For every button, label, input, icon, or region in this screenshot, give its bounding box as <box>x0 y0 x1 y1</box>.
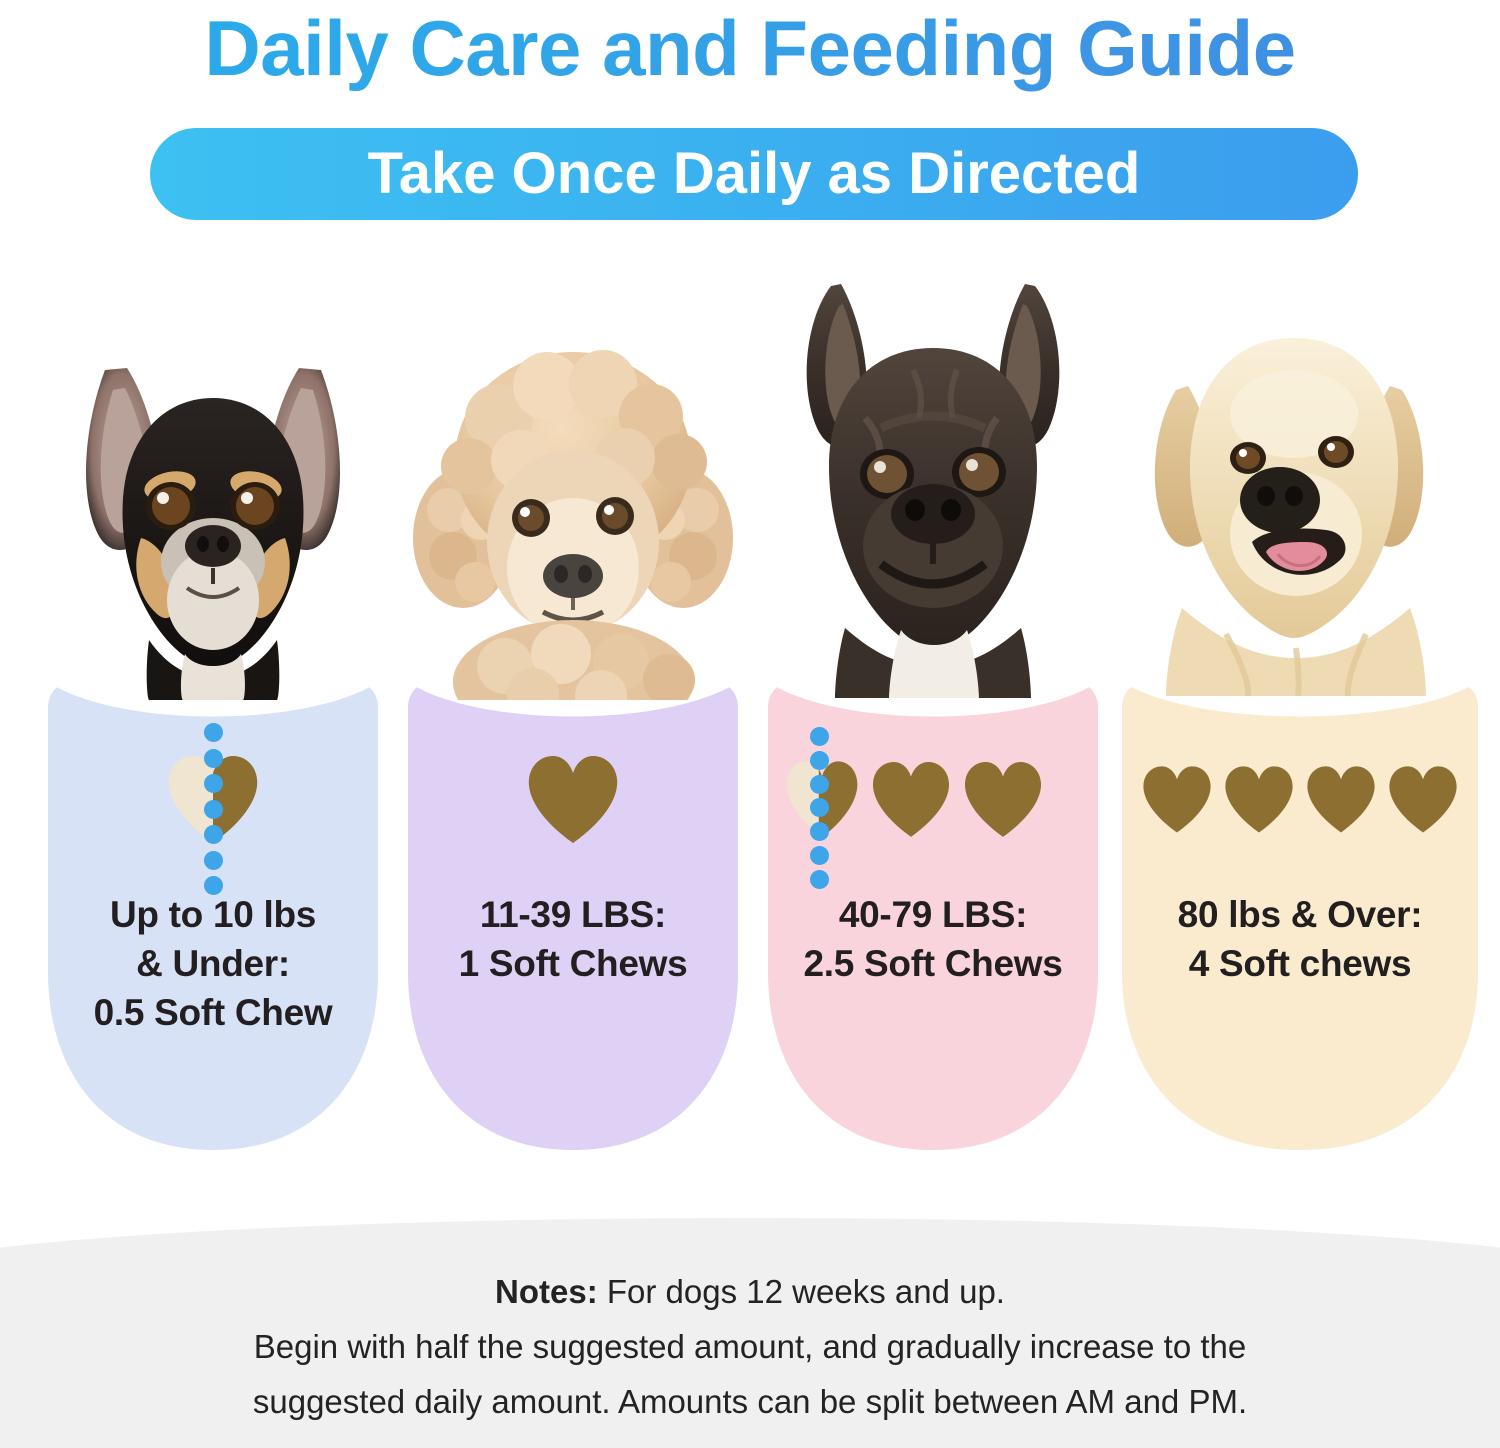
split-dot <box>810 822 829 841</box>
dosage-split-dot-line <box>203 723 223 895</box>
split-dot <box>204 825 223 844</box>
full-soft-chew-icon <box>523 751 623 847</box>
half-soft-chew-icon <box>782 757 862 841</box>
dosage-label: 80 lbs & Over: 4 Soft chews <box>1128 890 1472 988</box>
french-bulldog-dog-photo <box>773 278 1093 698</box>
dosage-cards-row: Up to 10 lbs & Under: 0.5 Soft Chew <box>0 300 1500 1200</box>
pocket-card-blue: Up to 10 lbs & Under: 0.5 Soft Chew <box>48 672 378 1160</box>
pocket-card-lavender: 11-39 LBS: 1 Soft Chews <box>408 672 738 1160</box>
dosage-label: 40-79 LBS: 2.5 Soft Chews <box>774 890 1092 988</box>
notes-section: Notes: For dogs 12 weeks and up. Begin w… <box>0 1218 1500 1448</box>
full-soft-chew-icon <box>960 757 1046 841</box>
split-dot <box>204 800 223 819</box>
dosage-card-11-39-lbs[interactable]: 11-39 LBS: 1 Soft Chews <box>408 300 738 1180</box>
poodle-dog-photo <box>413 310 733 700</box>
dosage-card-up-to-10-lbs[interactable]: Up to 10 lbs & Under: 0.5 Soft Chew <box>48 300 378 1180</box>
full-soft-chew-icon <box>868 757 954 841</box>
split-dot <box>810 798 829 817</box>
chew-icons-group <box>48 724 378 874</box>
split-dot <box>204 774 223 793</box>
pocket-card-pink: 40-79 LBS: 2.5 Soft Chews <box>768 672 1098 1160</box>
split-dot <box>810 727 829 746</box>
chihuahua-dog-photo <box>53 310 373 700</box>
notes-label: Notes: <box>495 1273 598 1310</box>
dosage-label: Up to 10 lbs & Under: 0.5 Soft Chew <box>54 890 372 1037</box>
half-soft-chew-icon <box>163 751 263 847</box>
notes-line-2: Begin with half the suggested amount, an… <box>0 1319 1500 1374</box>
pocket-card-cream: 80 lbs & Over: 4 Soft chews <box>1122 672 1478 1160</box>
dosage-split-dot-line <box>809 727 829 889</box>
split-dot <box>810 751 829 770</box>
page-title: Daily Care and Feeding Guide <box>0 2 1500 94</box>
chew-icons-group <box>1122 724 1478 874</box>
split-dot <box>204 851 223 870</box>
golden-retriever-dog-photo <box>1130 286 1470 696</box>
full-soft-chew-icon <box>1385 761 1461 837</box>
full-soft-chew-icon <box>1303 761 1379 837</box>
header: Daily Care and Feeding Guide Take Once D… <box>0 0 1500 236</box>
notes-line1-text: For dogs 12 weeks and up. <box>598 1273 1005 1310</box>
split-dot <box>810 870 829 889</box>
subtitle-text: Take Once Daily as Directed <box>368 143 1141 205</box>
dosage-card-40-79-lbs[interactable]: 40-79 LBS: 2.5 Soft Chews <box>768 300 1098 1180</box>
chew-icons-group <box>408 724 738 874</box>
dosage-label: 11-39 LBS: 1 Soft Chews <box>414 890 732 988</box>
subtitle-pill-banner: Take Once Daily as Directed <box>150 128 1358 220</box>
full-soft-chew-icon <box>1221 761 1297 837</box>
full-soft-chew-icon <box>1139 761 1215 837</box>
split-dot <box>204 723 223 742</box>
notes-line-3: suggested daily amount. Amounts can be s… <box>0 1374 1500 1429</box>
notes-text-block: Notes: For dogs 12 weeks and up. Begin w… <box>0 1264 1500 1429</box>
chew-icons-group <box>768 724 1098 874</box>
split-dot <box>810 775 829 794</box>
split-dot <box>204 749 223 768</box>
dosage-card-80-lbs-and-over[interactable]: 80 lbs & Over: 4 Soft chews <box>1122 300 1478 1180</box>
split-dot <box>810 846 829 865</box>
notes-line-1: Notes: For dogs 12 weeks and up. <box>0 1264 1500 1319</box>
